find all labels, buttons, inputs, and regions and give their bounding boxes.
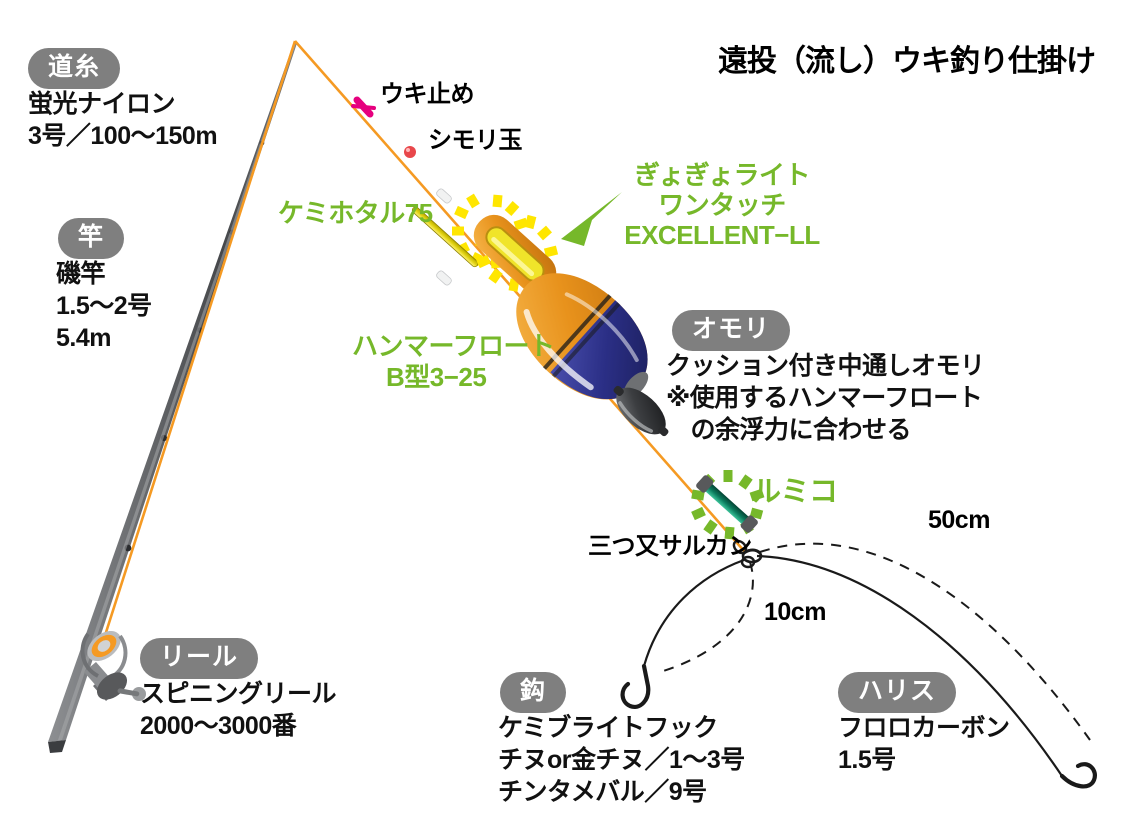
label-gyogyo-line3: EXCELLENT−LL — [572, 220, 872, 252]
label-three-way-swivel: 三つ又サルカン — [588, 531, 752, 562]
label-hammer-float-line1: ハンマーフロート — [352, 331, 554, 363]
rig-diagram-canvas: 遠投（流し）ウキ釣り仕掛け 道糸 蛍光ナイロン 3号／100〜150m 竿 磯竿… — [0, 0, 1136, 832]
hook-spec-line3: チンタメバル／9号 — [498, 776, 707, 809]
rod-spec-line3: 5.4m — [56, 322, 111, 355]
sinker-spec-line1: クッション付き中通しオモリ — [666, 350, 985, 383]
label-pill-mainline: 道糸 — [28, 48, 120, 89]
label-lumiko: ルミコ — [752, 475, 838, 510]
label-gyogyo-line1: ぎょぎょライト — [592, 160, 852, 192]
rod-spec-line1: 磯竿 — [56, 258, 105, 291]
reel-spec-line1: スピニングリール — [140, 678, 336, 711]
label-kemihotaru: ケミホタル75 — [278, 198, 433, 230]
label-uki-dome: ウキ止め — [380, 79, 474, 110]
page-title: 遠投（流し）ウキ釣り仕掛け — [718, 42, 1095, 81]
leader-spec-line2: 1.5号 — [838, 744, 896, 777]
fishing-hook-icon — [623, 666, 649, 707]
sinker-spec-line3: の余浮力に合わせる — [666, 414, 911, 447]
fishing-hook-icon — [1062, 764, 1095, 786]
reel-spec-line2: 2000〜3000番 — [140, 710, 296, 743]
dimension-lower: 10cm — [764, 596, 826, 629]
hook-spec-line2: チヌor金チヌ／1〜3号 — [498, 744, 745, 777]
label-shimori-dama: シモリ玉 — [428, 125, 522, 156]
label-pill-reel: リール — [140, 638, 258, 679]
label-pill-hook: 鈎 — [500, 672, 566, 713]
sinker-spec-line2: ※使用するハンマーフロート — [666, 382, 982, 415]
label-gyogyo-line2: ワンタッチ — [592, 190, 852, 222]
mainline-spec-line2: 3号／100〜150m — [28, 120, 217, 153]
label-pill-sinker: オモリ — [672, 310, 790, 351]
label-hammer-float-line2: B型3−25 — [386, 362, 486, 394]
shimori-bead-icon — [404, 146, 416, 158]
label-pill-leader: ハリス — [838, 672, 956, 713]
leader-spec-line1: フロロカーボン — [838, 712, 1010, 745]
dimension-upper: 50cm — [928, 504, 990, 537]
hook-spec-line1: ケミブライトフック — [498, 712, 718, 745]
rod-spec-line2: 1.5〜2号 — [56, 290, 152, 323]
label-pill-rod: 竿 — [58, 218, 124, 259]
mainline-spec-line1: 蛍光ナイロン — [28, 88, 175, 121]
